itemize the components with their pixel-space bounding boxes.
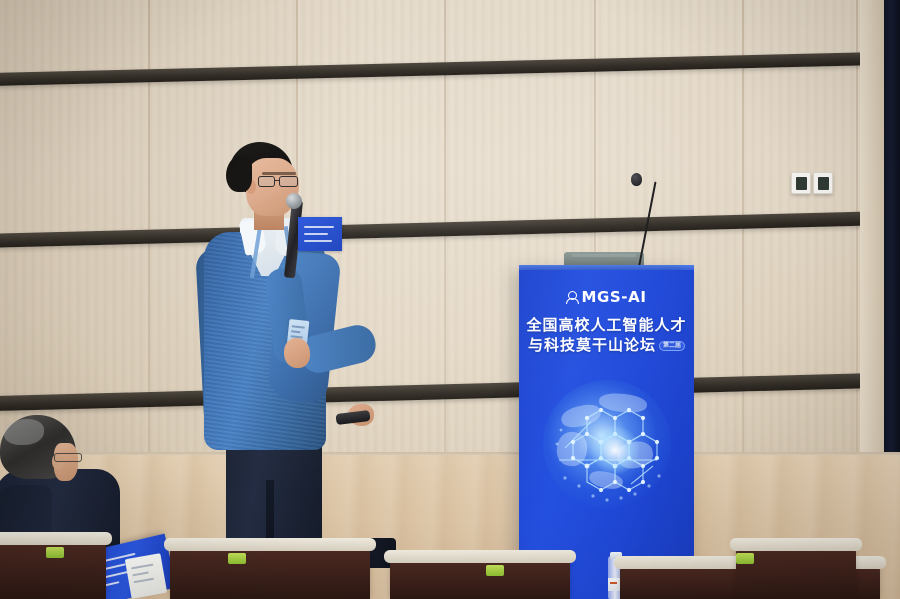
auditorium-wall <box>0 0 900 475</box>
auditorium-seat[interactable] <box>0 541 106 599</box>
badge-text-line <box>292 325 305 328</box>
podium-title-line-2-wrap: 与科技莫干山论坛第二届 <box>519 334 694 355</box>
globe-network-icon <box>535 374 678 524</box>
wall-switch-plate[interactable] <box>791 172 811 194</box>
wall-switch-plates[interactable] <box>791 172 833 194</box>
globe-center-glow <box>591 426 639 474</box>
switch-button-icon[interactable] <box>796 177 807 190</box>
microphone-flag <box>298 217 342 251</box>
wall-corner-recess <box>884 0 900 470</box>
mic-flag-text-line <box>304 226 334 228</box>
wall-panel-seam <box>742 0 744 475</box>
podium-logo: MGS-AI <box>519 288 694 306</box>
seat-number-tag <box>486 565 504 576</box>
program-insert-card[interactable] <box>125 553 167 599</box>
podium-title-line-1: 全国高校人工智能人才 <box>519 314 694 335</box>
glasses-lens-right <box>279 176 298 187</box>
wall-corner-return <box>860 0 886 470</box>
podium-logo-text: MGS-AI <box>581 288 646 306</box>
podium-title-line-2: 与科技莫干山论坛 <box>528 336 656 354</box>
seat-backrest-rail <box>0 532 112 545</box>
seat-number-tag <box>228 553 246 564</box>
mic-flag-text-line <box>304 240 332 242</box>
auditorium-seat[interactable] <box>736 547 856 599</box>
auditorium-seat[interactable] <box>170 547 370 599</box>
seat-number-tag <box>46 547 64 558</box>
speaker-hand-holding-mic <box>284 338 310 368</box>
card-text-line <box>131 564 153 570</box>
card-text-line <box>133 572 149 577</box>
bottle-label-accent <box>610 582 617 584</box>
card-text-line <box>134 578 154 583</box>
switch-button-icon[interactable] <box>818 177 829 190</box>
seat-number-tag <box>736 553 754 564</box>
glasses-lens-left <box>258 176 275 187</box>
seat-backrest-rail <box>384 550 576 563</box>
auditorium-seat[interactable] <box>390 559 570 599</box>
wall-panel-seam <box>856 0 858 475</box>
conference-photo-scene: MGS-AI 全国高校人工智能人才 与科技莫干山论坛第二届 <box>0 0 900 599</box>
speaker-eyebrow <box>262 172 296 175</box>
speaker-hair-side <box>226 156 252 192</box>
seat-backrest-rail <box>164 538 376 551</box>
wall-switch-plate[interactable] <box>813 172 833 194</box>
badge-text-line <box>291 330 300 333</box>
glasses-icon <box>258 176 300 188</box>
glasses-icon <box>54 453 82 462</box>
attendee-hair-highlight <box>4 419 44 445</box>
gooseneck-microphone-head-icon <box>631 173 642 186</box>
mic-flag-text-line <box>304 233 328 235</box>
seat-backrest-rail <box>730 538 862 551</box>
edition-badge: 第二届 <box>659 341 685 351</box>
person-circle-logo-icon <box>566 291 577 304</box>
microphone-head-icon <box>286 193 302 209</box>
